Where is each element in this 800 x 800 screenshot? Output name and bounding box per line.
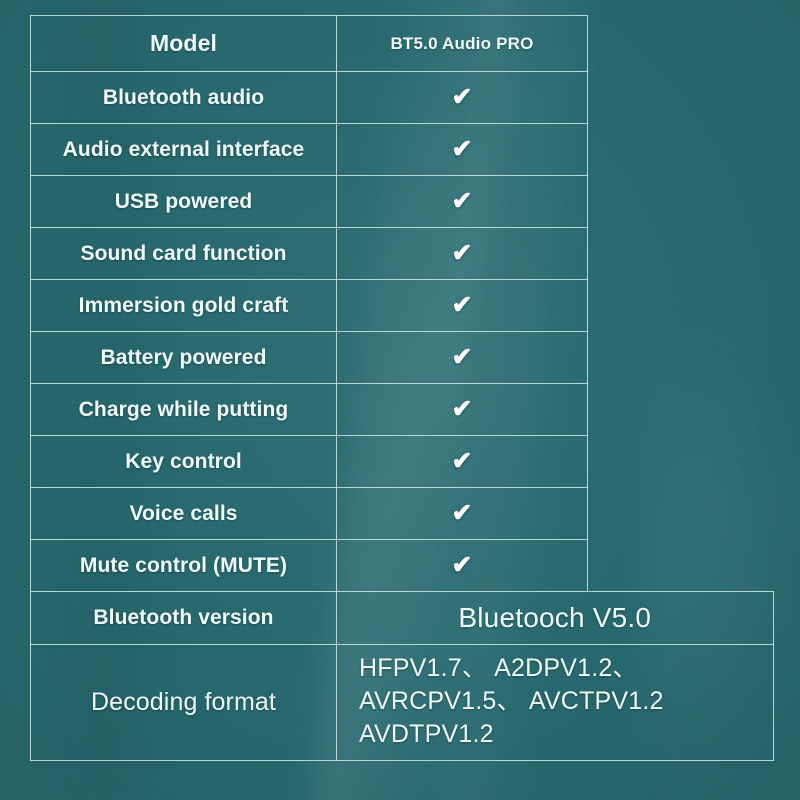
row-label-decoding-format: Decoding format xyxy=(31,645,337,761)
row-value-decoding-format: HFPV1.7、 A2DPV1.2、 AVRCPV1.5、 AVCTPV1.2 … xyxy=(337,645,774,761)
table-row: Sound card function ✔ xyxy=(31,228,774,280)
table-row: Key control ✔ xyxy=(31,436,774,488)
table-row: Battery powered ✔ xyxy=(31,332,774,384)
row-label-model: Model xyxy=(31,16,337,72)
check-icon: ✔ xyxy=(452,83,473,111)
row-filler xyxy=(588,488,774,540)
row-label-usb-powered: USB powered xyxy=(31,176,337,228)
row-label-bluetooth-audio: Bluetooth audio xyxy=(31,72,337,124)
row-label-battery-powered: Battery powered xyxy=(31,332,337,384)
row-filler xyxy=(588,436,774,488)
row-label-audio-external-interface: Audio external interface xyxy=(31,124,337,176)
row-filler xyxy=(588,280,774,332)
row-filler xyxy=(588,384,774,436)
table-row: Audio external interface ✔ xyxy=(31,124,774,176)
row-filler xyxy=(588,540,774,592)
check-icon: ✔ xyxy=(452,239,473,267)
table-row-bluetooth-version: Bluetooth version Bluetooch V5.0 xyxy=(31,592,774,645)
row-value-sound-card-function: ✔ xyxy=(337,228,588,280)
check-icon: ✔ xyxy=(452,291,473,319)
decoding-format-line-3: AVDTPV1.2 xyxy=(359,718,767,751)
row-label-mute-control: Mute control (MUTE) xyxy=(31,540,337,592)
check-icon: ✔ xyxy=(452,395,473,423)
table-row: Immersion gold craft ✔ xyxy=(31,280,774,332)
row-value-immersion-gold-craft: ✔ xyxy=(337,280,588,332)
table-row: Voice calls ✔ xyxy=(31,488,774,540)
row-label-charge-while-putting: Charge while putting xyxy=(31,384,337,436)
row-label-voice-calls: Voice calls xyxy=(31,488,337,540)
check-icon: ✔ xyxy=(452,135,473,163)
check-icon: ✔ xyxy=(452,447,473,475)
row-filler xyxy=(588,16,774,72)
row-label-sound-card-function: Sound card function xyxy=(31,228,337,280)
row-filler xyxy=(588,332,774,384)
row-value-audio-external-interface: ✔ xyxy=(337,124,588,176)
row-value-voice-calls: ✔ xyxy=(337,488,588,540)
table-row: Charge while putting ✔ xyxy=(31,384,774,436)
row-label-bluetooth-version: Bluetooth version xyxy=(31,592,337,645)
check-icon: ✔ xyxy=(452,499,473,527)
table-row: USB powered ✔ xyxy=(31,176,774,228)
table-row-model: Model BT5.0 Audio PRO xyxy=(31,16,774,72)
row-value-charge-while-putting: ✔ xyxy=(337,384,588,436)
check-icon: ✔ xyxy=(452,551,473,579)
decoding-format-line-1: HFPV1.7、 A2DPV1.2、 xyxy=(359,652,767,685)
specification-table: Model BT5.0 Audio PRO Bluetooth audio ✔ … xyxy=(30,15,774,761)
product-spec-image: Model BT5.0 Audio PRO Bluetooth audio ✔ … xyxy=(0,0,800,800)
row-value-bluetooth-audio: ✔ xyxy=(337,72,588,124)
row-filler xyxy=(588,176,774,228)
row-value-model: BT5.0 Audio PRO xyxy=(337,16,588,72)
row-value-bluetooth-version: Bluetooch V5.0 xyxy=(337,592,774,645)
row-label-key-control: Key control xyxy=(31,436,337,488)
row-filler xyxy=(588,124,774,176)
decoding-format-line-2: AVRCPV1.5、 AVCTPV1.2 xyxy=(359,685,767,718)
row-label-immersion-gold-craft: Immersion gold craft xyxy=(31,280,337,332)
table-row-decoding-format: Decoding format HFPV1.7、 A2DPV1.2、 AVRCP… xyxy=(31,645,774,761)
table-row: Mute control (MUTE) ✔ xyxy=(31,540,774,592)
check-icon: ✔ xyxy=(452,343,473,371)
check-icon: ✔ xyxy=(452,187,473,215)
row-value-key-control: ✔ xyxy=(337,436,588,488)
row-value-usb-powered: ✔ xyxy=(337,176,588,228)
row-value-battery-powered: ✔ xyxy=(337,332,588,384)
row-filler xyxy=(588,72,774,124)
row-filler xyxy=(588,228,774,280)
table-row: Bluetooth audio ✔ xyxy=(31,72,774,124)
row-value-mute-control: ✔ xyxy=(337,540,588,592)
